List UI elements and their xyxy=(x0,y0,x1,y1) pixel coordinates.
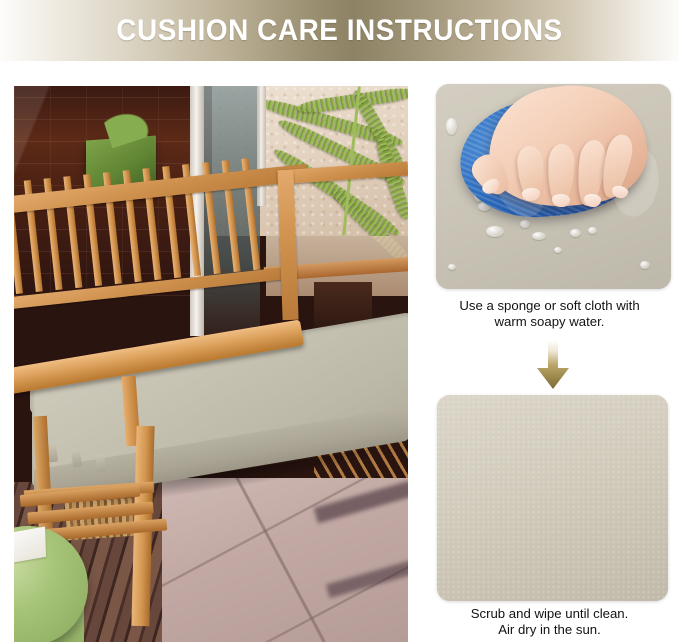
water-droplet xyxy=(446,118,457,135)
page-title: CUSHION CARE INSTRUCTIONS xyxy=(24,0,655,61)
step-two-caption-line-2: Air dry in the sun. xyxy=(420,622,679,638)
water-droplet xyxy=(448,264,456,270)
water-droplet xyxy=(520,220,530,228)
patio-scene xyxy=(14,86,408,642)
step-two-caption-line-1: Scrub and wipe until clean. xyxy=(420,606,679,622)
arrow-down-icon xyxy=(536,340,570,390)
water-droplet xyxy=(570,229,581,237)
water-droplet xyxy=(486,226,504,237)
hero-product-photo: EASY TO CLEAN xyxy=(14,86,408,642)
step-one-image xyxy=(436,84,671,289)
water-droplet xyxy=(532,232,546,240)
water-droplet xyxy=(588,227,597,234)
water-droplet xyxy=(640,261,650,269)
water-droplet xyxy=(554,247,562,253)
step-one-caption-line-1: Use a sponge or soft cloth with xyxy=(420,298,679,314)
step-two-image xyxy=(437,395,668,601)
step-two-caption: Scrub and wipe until clean. Air dry in t… xyxy=(420,606,679,638)
step-one-caption: Use a sponge or soft cloth with warm soa… xyxy=(420,298,679,330)
clean-cushion-surface xyxy=(437,395,668,601)
step-one-caption-line-2: warm soapy water. xyxy=(420,314,679,330)
care-steps-column: Use a sponge or soft cloth with warm soa… xyxy=(420,80,679,642)
cushion-care-infographic: CUSHION CARE INSTRUCTIONS xyxy=(0,0,679,642)
